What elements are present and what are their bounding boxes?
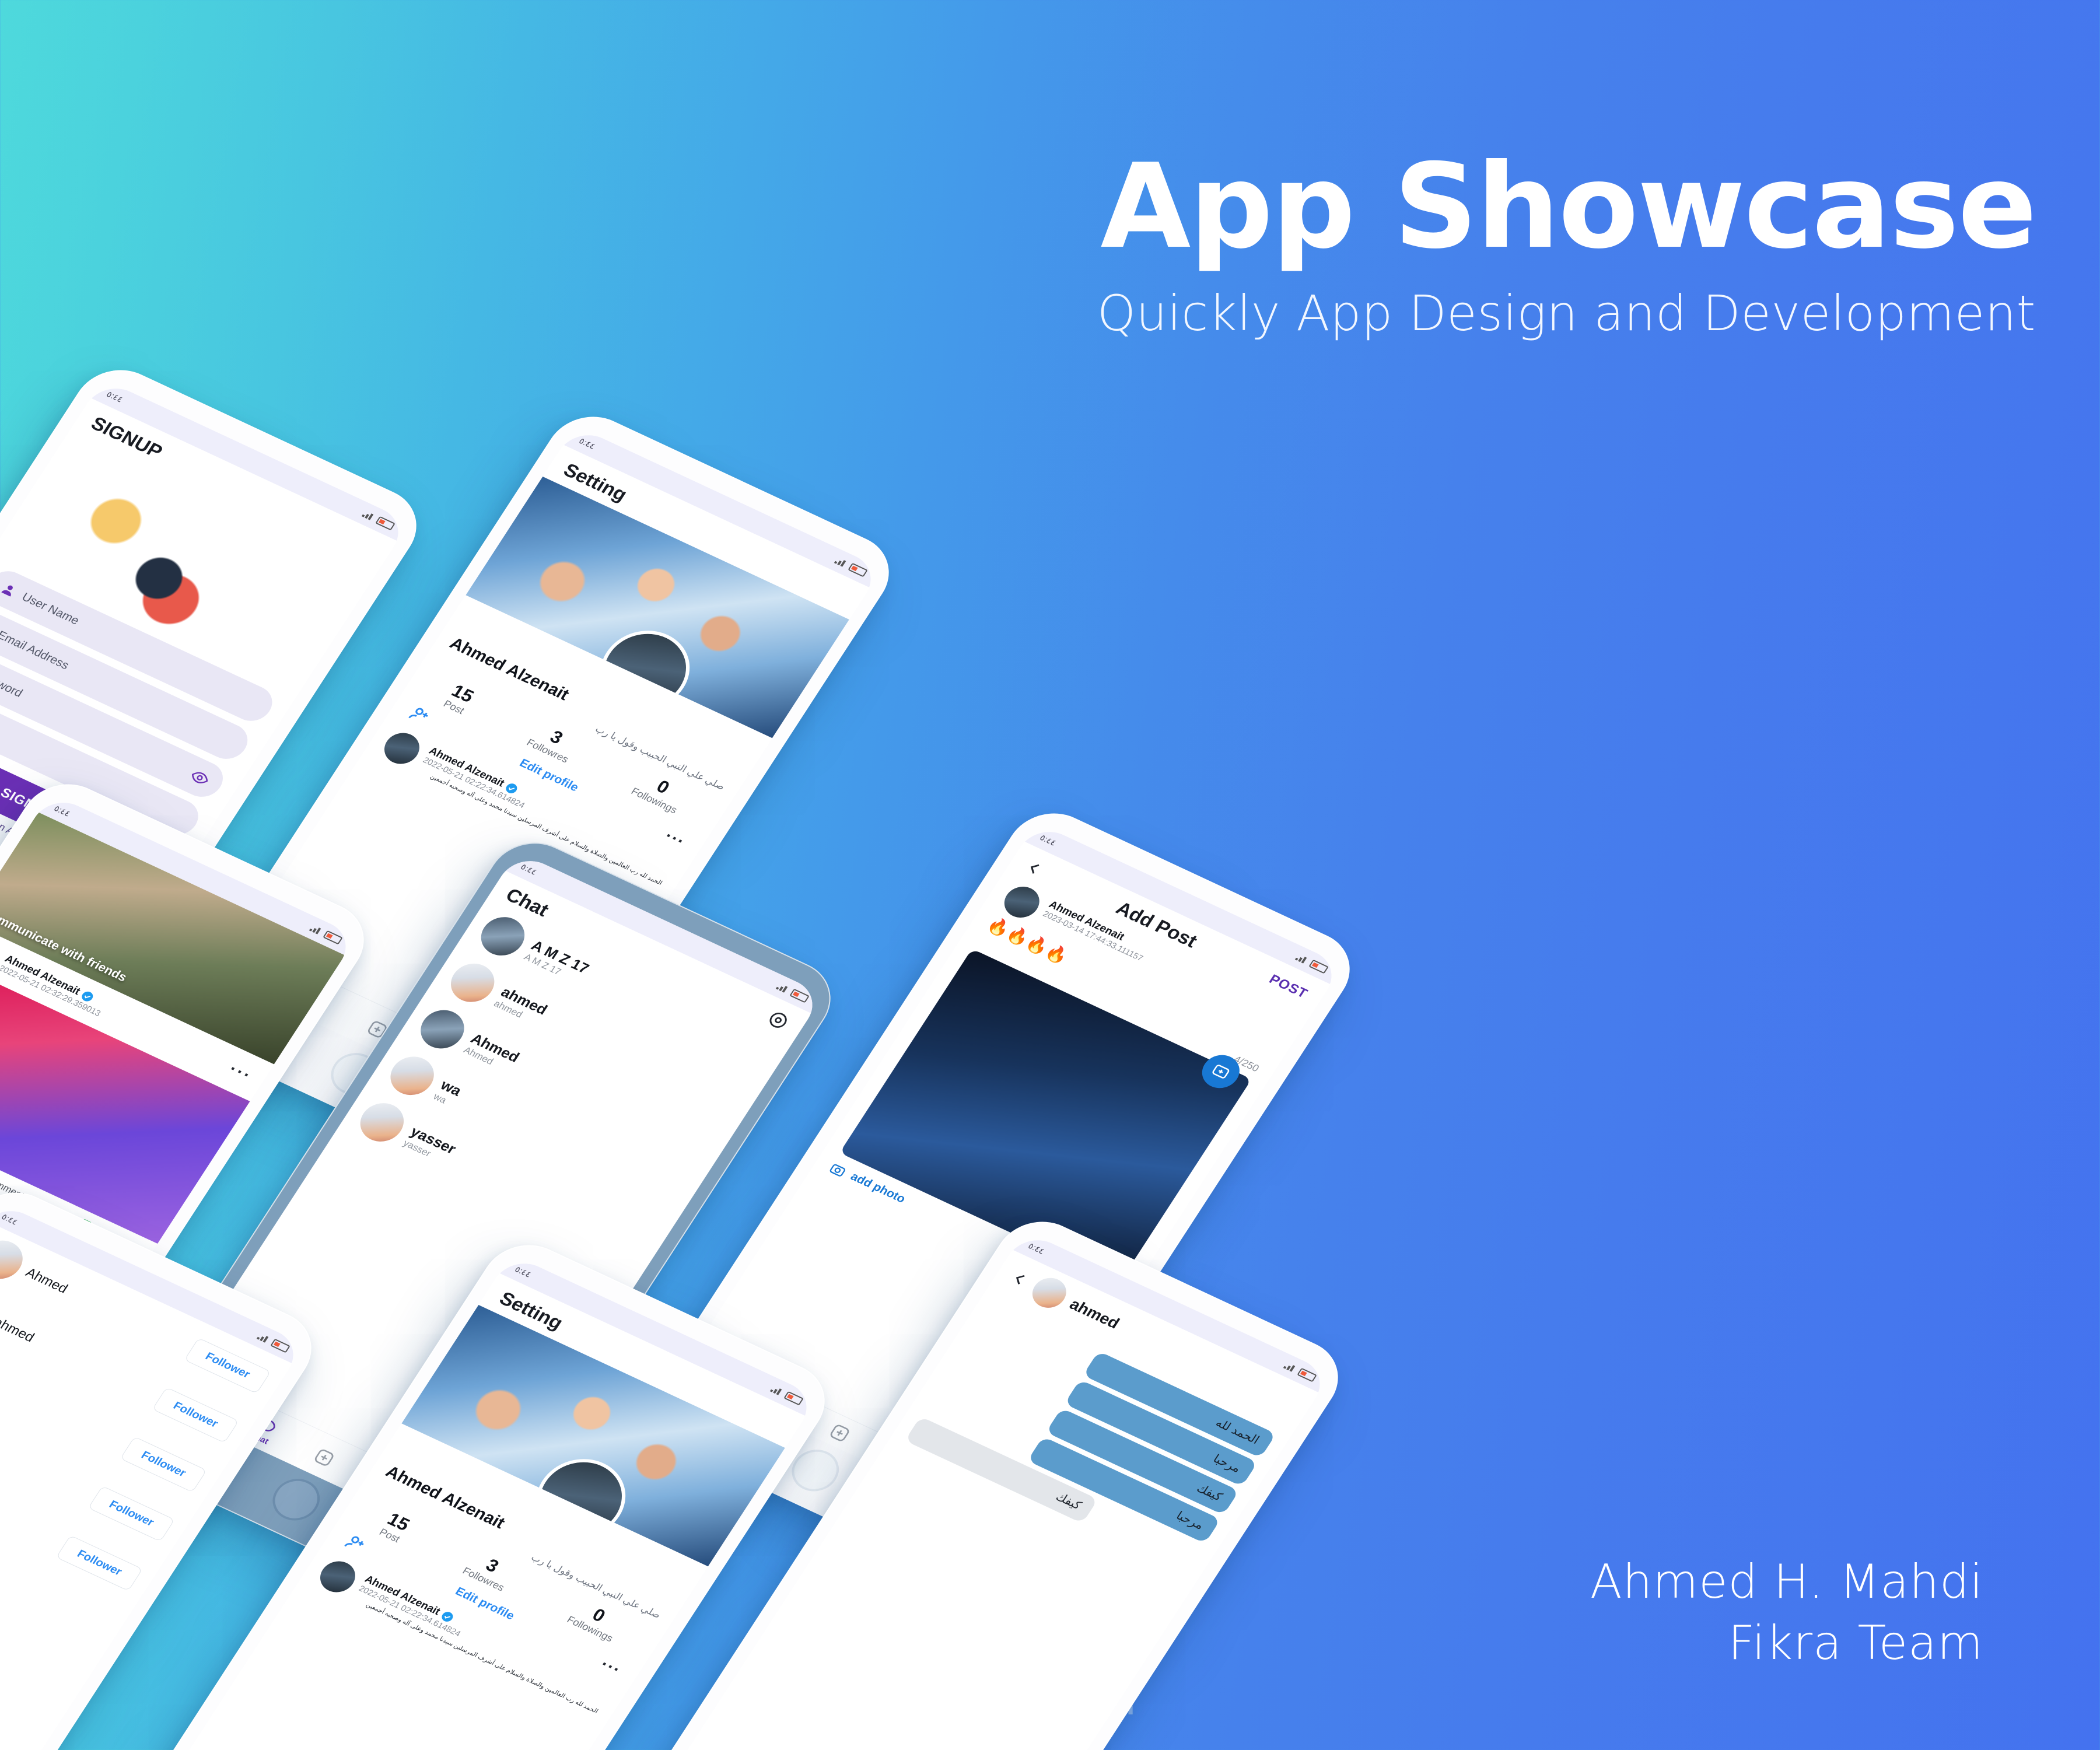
avatar	[352, 1097, 412, 1148]
avatar	[443, 957, 502, 1009]
status-time: ٥:٤٤	[52, 803, 72, 818]
stat-post: 15 Post	[441, 681, 478, 717]
camera-icon	[827, 1160, 850, 1179]
avatar[interactable]	[314, 1556, 362, 1597]
add-photo-icon	[1209, 1061, 1233, 1083]
home-button[interactable]	[264, 1472, 328, 1528]
battery-icon	[376, 516, 396, 530]
nav-add-post[interactable]	[827, 1422, 853, 1444]
battery-icon	[1309, 959, 1329, 974]
back-arrow-icon[interactable]	[1007, 1268, 1032, 1290]
status-time: ٥:٤٤	[0, 1212, 20, 1227]
add-user-icon[interactable]	[405, 702, 435, 728]
username-placeholder: User Name	[19, 590, 82, 627]
user-name: ahmed	[0, 1314, 37, 1345]
battery-icon	[271, 1338, 291, 1353]
signal-icon	[1295, 953, 1310, 965]
avatar[interactable]	[378, 727, 426, 769]
eye-icon[interactable]	[187, 767, 212, 789]
page-subtitle: Quickly App Design and Development	[752, 286, 2036, 340]
battery-icon	[323, 930, 344, 944]
user-name: Ahmed	[23, 1265, 71, 1297]
more-options-icon[interactable]: ...	[599, 1651, 627, 1676]
page-title: App Showcase	[752, 149, 2036, 265]
status-time: ٥:٤٤	[513, 1264, 533, 1279]
signal-icon	[1283, 1361, 1298, 1373]
more-options-icon[interactable]: ···	[225, 1060, 256, 1086]
avatar	[383, 1050, 442, 1101]
stat-post: 15 Post	[377, 1509, 414, 1545]
signal-icon	[309, 924, 324, 936]
hero-block: App Showcase Quickly App Design and Deve…	[752, 149, 2036, 340]
back-arrow-icon[interactable]	[1022, 857, 1046, 879]
signal-icon	[776, 982, 790, 994]
battery-icon	[1297, 1367, 1318, 1382]
avatar[interactable]	[1026, 1273, 1072, 1313]
avatar	[412, 1003, 472, 1055]
battery-icon	[848, 562, 869, 577]
more-options-icon[interactable]: ...	[663, 823, 691, 848]
avatar[interactable]	[998, 881, 1046, 923]
status-time: ٥:٤٤	[577, 436, 597, 451]
add-user-icon[interactable]	[341, 1531, 370, 1556]
chat-peer-name: ahmed	[1066, 1296, 1123, 1332]
nav-add-post[interactable]	[311, 1446, 337, 1469]
status-time: ٥:٤٤	[104, 389, 125, 404]
battery-icon	[790, 988, 810, 1003]
status-time: ٥:٤٤	[1038, 832, 1058, 848]
add-post-icon	[827, 1422, 853, 1444]
signal-icon	[834, 556, 849, 568]
signal-icon	[362, 510, 376, 521]
battery-icon	[784, 1391, 804, 1405]
message-composer: tyoe your message here ...	[667, 1739, 1001, 1750]
email-placeholder: Email Address	[0, 629, 71, 673]
avatar	[473, 911, 533, 962]
password-placeholder: Password	[0, 667, 25, 701]
author-team: Fikra Team	[1590, 1612, 1983, 1674]
author-name: Ahmed H. Mahdi	[1590, 1551, 1983, 1613]
status-time: ٥:٤٤	[519, 862, 539, 877]
signal-icon	[770, 1385, 785, 1396]
signal-icon	[257, 1332, 271, 1344]
users-icon[interactable]	[764, 1008, 792, 1032]
status-time: ٥:٤٤	[1026, 1241, 1046, 1256]
author-signature: Ahmed H. Mahdi Fikra Team	[1590, 1551, 1983, 1674]
user-icon	[0, 580, 20, 599]
add-post-icon	[311, 1446, 337, 1469]
